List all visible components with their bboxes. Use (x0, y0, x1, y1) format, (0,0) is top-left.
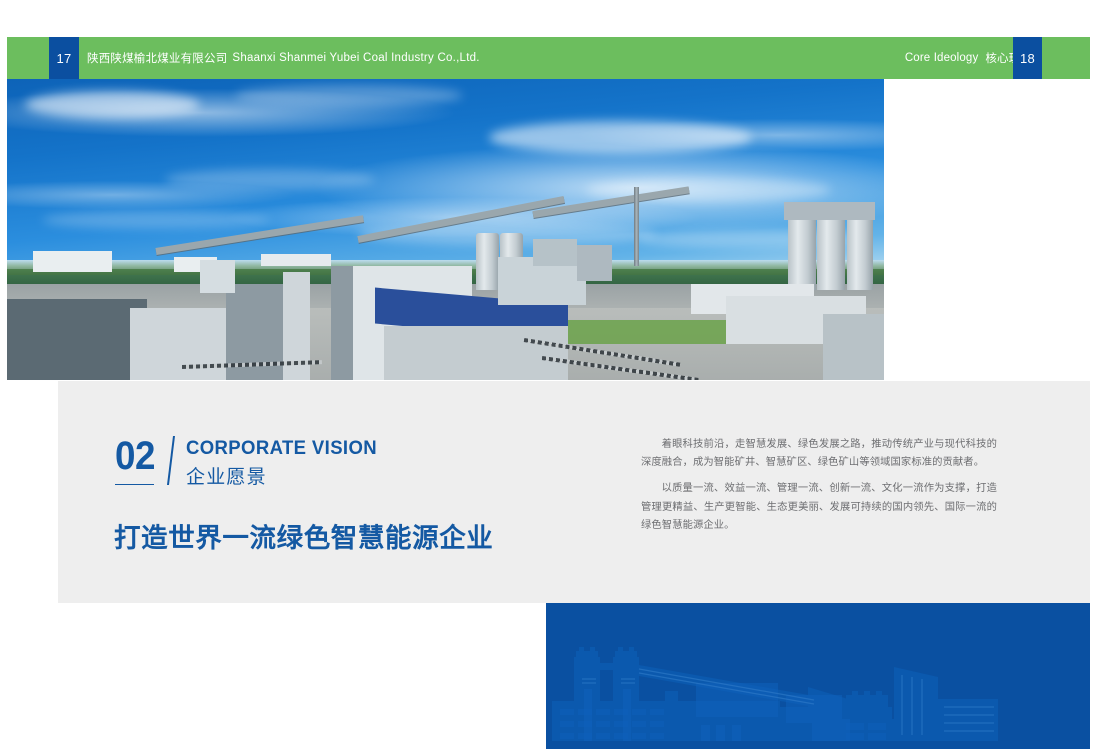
section-number: 02 (115, 436, 155, 476)
building-shape (7, 299, 147, 380)
chimney-stack (634, 187, 639, 265)
company-name-cn: 陕西陕煤榆北煤业有限公司 (87, 50, 227, 66)
cloud-shape (235, 85, 463, 106)
body-copy: 着眼科技前沿，走智慧发展、绿色发展之路，推动传统产业与现代科技的深度融合，成为智… (641, 436, 997, 535)
building-shape (331, 266, 352, 380)
silo-shape (847, 217, 873, 289)
plant-block (577, 245, 612, 281)
section-label-en: Core Ideology (905, 52, 979, 64)
silo-shape (817, 217, 845, 289)
company-name: 陕西陕煤榆北煤业有限公司 Shaanxi Shanmei Yubei Coal … (87, 37, 480, 79)
industrial-silhouette-icon (546, 603, 1090, 749)
company-name-en: Shaanxi Shanmei Yubei Coal Industry Co.,… (232, 52, 479, 64)
vision-headline: 打造世界一流绿色智慧能源企业 (114, 516, 493, 555)
building-shape (130, 308, 235, 380)
brochure-page: 17 陕西陕煤榆北煤业有限公司 Shaanxi Shanmei Yubei Co… (0, 0, 1098, 749)
building-shape (33, 251, 112, 272)
building-shape (261, 254, 331, 266)
section-titles: CORPORATE VISION 企业愿景 (186, 436, 387, 490)
section-number-underline (115, 484, 154, 486)
silo-shape (788, 217, 816, 289)
bottom-graphic-panel (546, 603, 1090, 749)
page-number-right: 18 (1013, 37, 1042, 79)
section-title-en: CORPORATE VISION (186, 438, 377, 459)
plant-block (533, 239, 577, 266)
body-paragraph: 着眼科技前沿，走智慧发展、绿色发展之路，推动传统产业与现代科技的深度融合，成为智… (641, 436, 997, 472)
page-number-left: 17 (49, 37, 79, 79)
silo-shape (476, 233, 499, 290)
section-number-wrap: 02 (115, 436, 170, 476)
warehouse-wall (384, 326, 568, 380)
cloud-shape (25, 91, 200, 118)
section-heading: 02 CORPORATE VISION 企业愿景 (115, 436, 387, 490)
building-shape (200, 260, 235, 293)
building-shape (823, 314, 884, 380)
silo-cap (784, 202, 875, 220)
hero-photo (7, 79, 884, 380)
section-title-cn: 企业愿景 (186, 466, 387, 490)
body-paragraph: 以质量一流、效益一流、管理一流、创新一流、文化一流作为支撑，打造管理更精益、生产… (641, 480, 997, 535)
